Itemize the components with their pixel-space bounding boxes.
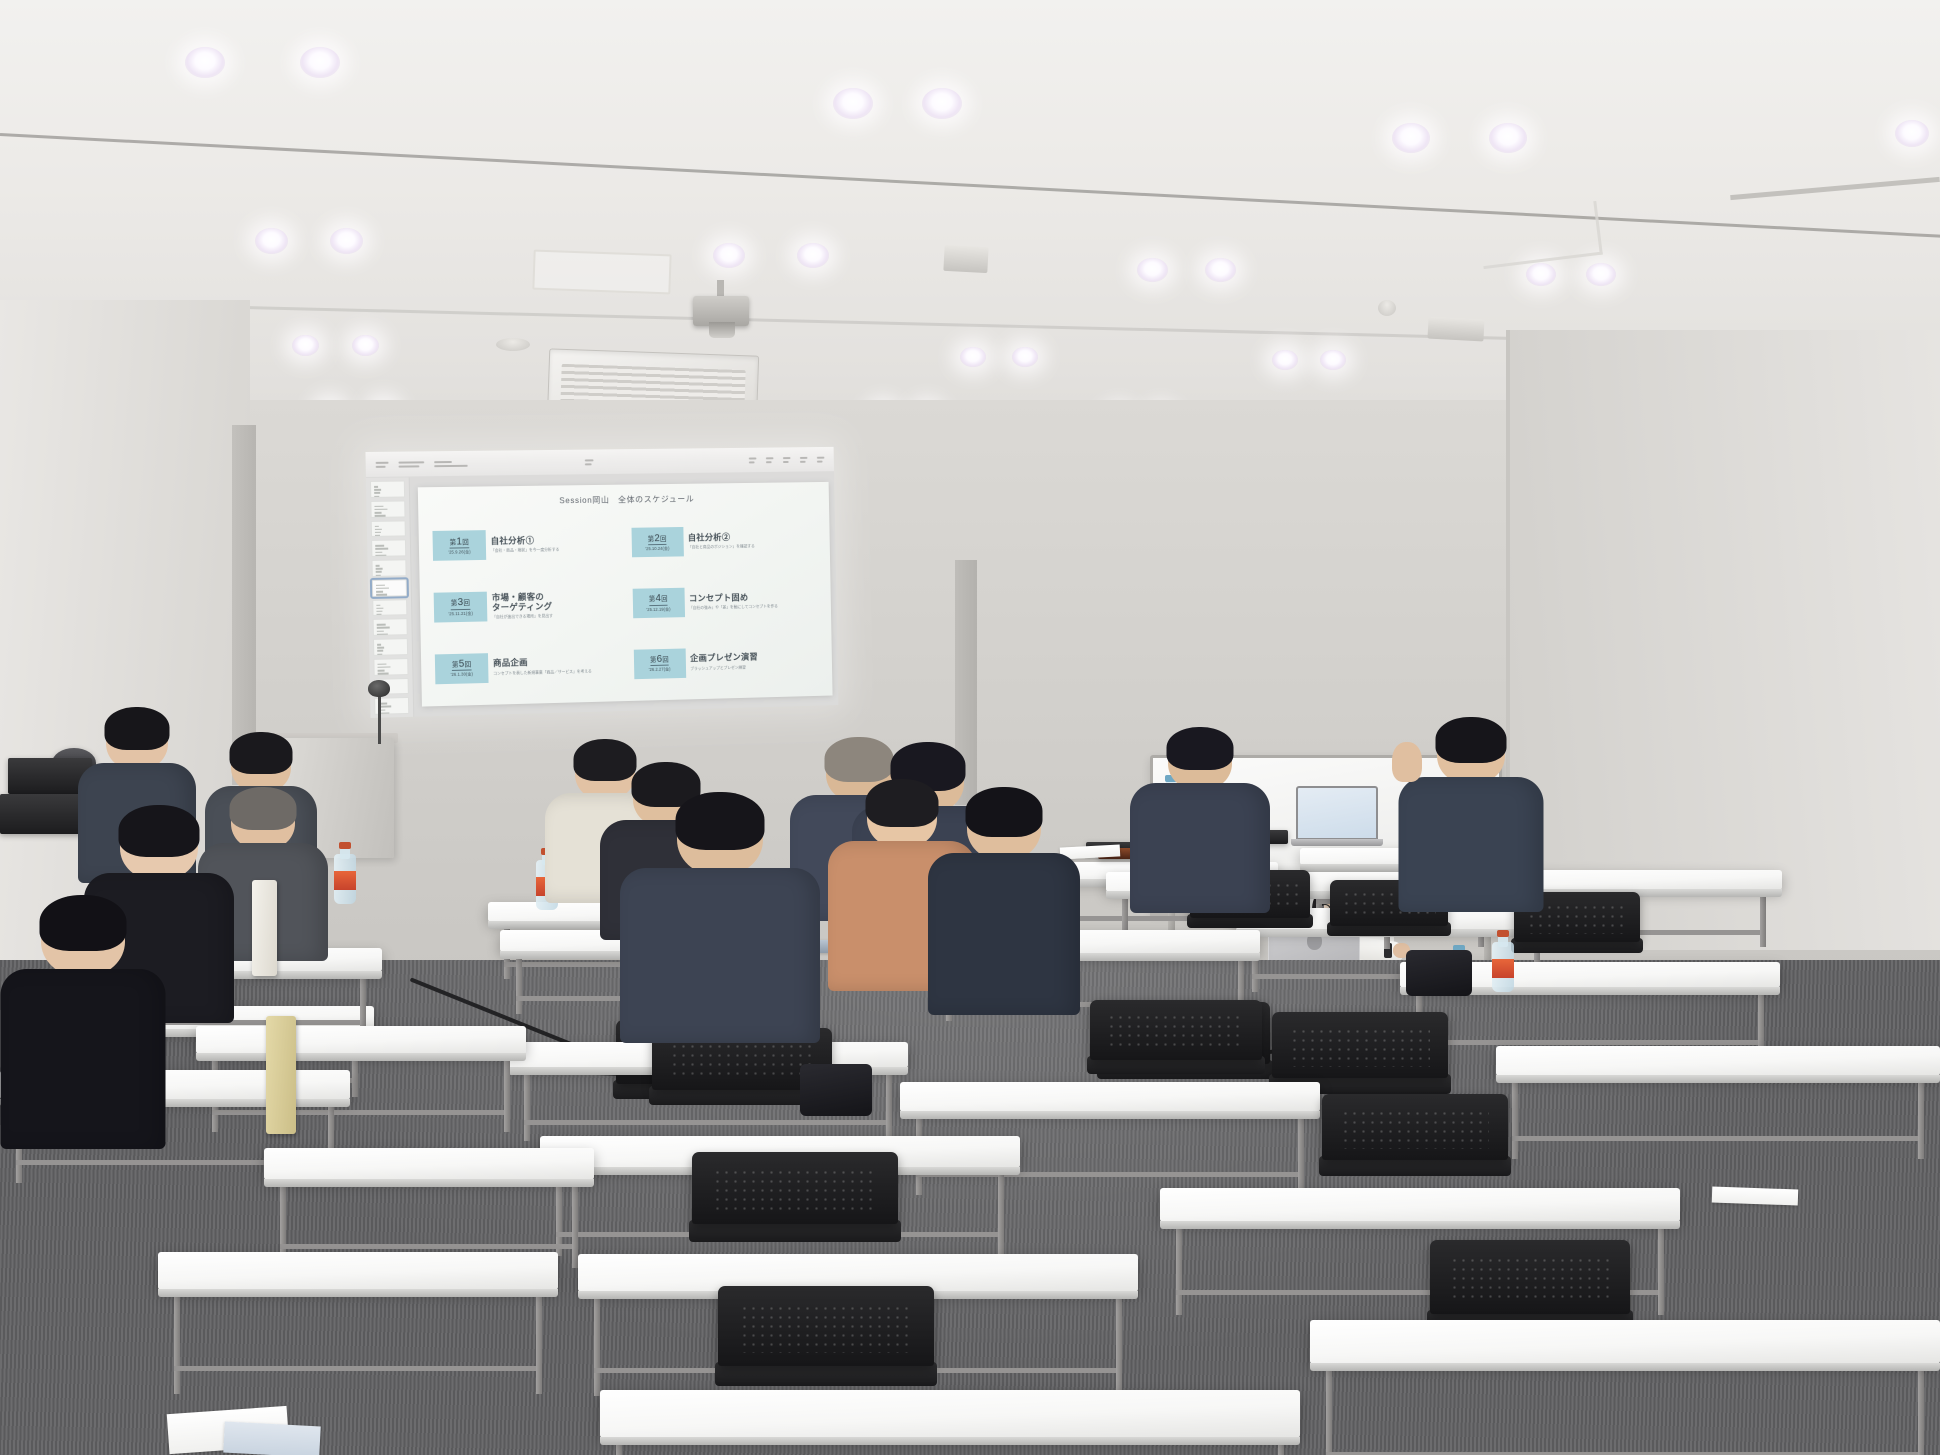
desk-rail — [524, 1120, 886, 1125]
slide-canvas: Session岡山 全体のスケジュール 第1回 '25.9.26(金) 自社分析… — [410, 472, 839, 717]
slide-thumbnail[interactable] — [371, 520, 406, 537]
ribbon-group — [783, 457, 791, 463]
desk-rail — [280, 1244, 572, 1249]
microphone-stand — [378, 690, 381, 744]
attendee-torso — [620, 868, 820, 1043]
chair — [1272, 1012, 1448, 1078]
session-item: 第5回 '26.1.30(金) 商品企画 コンセプトを表した新規事業「商品／サー… — [435, 635, 628, 698]
attendee-right-1 — [1130, 730, 1270, 920]
downlight-icon — [713, 243, 745, 268]
slide-thumbnail[interactable] — [370, 500, 405, 517]
downlight-icon — [292, 335, 319, 356]
downlight-icon — [1137, 258, 1168, 282]
session-date: '26.1.30(金) — [451, 672, 474, 679]
downlight-icon — [330, 228, 363, 254]
chair — [718, 1286, 934, 1366]
projection-screen: Session岡山 全体のスケジュール 第1回 '25.9.26(金) 自社分析… — [365, 447, 838, 718]
seminar-room-photo: Session岡山 全体のスケジュール 第1回 '25.9.26(金) 自社分析… — [0, 0, 1940, 1455]
session-date: '25.11.21(金) — [448, 611, 473, 617]
desk-rail — [1416, 1040, 1758, 1045]
desk-rail — [1512, 1136, 1918, 1141]
ribbon-group — [749, 457, 757, 463]
smoke-detector-icon — [496, 338, 530, 351]
downlight-icon — [1526, 263, 1556, 286]
desk-leg — [1298, 1117, 1304, 1195]
tumbler — [252, 880, 277, 976]
current-slide: Session岡山 全体のスケジュール 第1回 '25.9.26(金) 自社分析… — [418, 482, 833, 707]
chair — [692, 1152, 898, 1224]
desk-row5-right — [1160, 1188, 1680, 1222]
attendee-torso — [0, 969, 165, 1149]
bag — [800, 1064, 872, 1116]
chair — [1322, 1094, 1508, 1160]
ribbon-group — [434, 460, 468, 466]
downlight-icon — [1320, 350, 1346, 370]
desk-leg — [536, 1295, 542, 1394]
attendee-hair — [1435, 717, 1506, 763]
ceiling-speaker-icon — [943, 245, 988, 273]
chair — [1090, 1000, 1262, 1060]
slide-thumbnail[interactable] — [372, 579, 407, 596]
session-date: '25.10.24(金) — [645, 546, 669, 552]
desk-leg — [1512, 1081, 1518, 1159]
session-number-badge: 第6回 '26.2.27(金) — [633, 648, 685, 679]
session-heading: コンセプト固め — [689, 592, 778, 603]
desk-row4-right — [900, 1082, 1320, 1112]
attendee-center-7 — [928, 790, 1080, 1022]
session-heading: 商品企画 — [493, 657, 592, 669]
ribbon-group — [766, 457, 774, 463]
attendee-hair — [966, 787, 1043, 837]
downlight-icon — [1392, 123, 1430, 153]
desk-leg — [886, 1073, 892, 1141]
attendee-hair — [1167, 727, 1234, 770]
downlight-icon — [1205, 258, 1236, 282]
desk-row4-far-right — [1496, 1046, 1940, 1076]
bag — [1406, 950, 1472, 996]
tumbler — [266, 1016, 296, 1134]
session-number-badge: 第2回 '25.10.24(金) — [631, 527, 683, 557]
slide-thumbnail[interactable] — [373, 618, 408, 635]
ribbon-group — [398, 461, 424, 467]
desk-leg — [516, 957, 522, 1014]
slide-thumbnail[interactable] — [370, 481, 405, 498]
session-number: 第6回 — [650, 654, 669, 667]
session-number-badge: 第4回 '25.12.19(金) — [632, 588, 684, 619]
desk-row5-left — [158, 1252, 558, 1290]
downlight-icon — [352, 335, 379, 356]
session-item: 第4回 '25.12.19(金) コンセプト固め 「自社の強み」や「差」を軸にし… — [632, 571, 820, 632]
downlight-icon — [300, 47, 340, 78]
desk-rail — [174, 1366, 536, 1371]
attendee-hair — [105, 707, 170, 750]
slide-thumbnail[interactable] — [372, 599, 407, 616]
desk-leg — [504, 1059, 510, 1132]
desk-row4-left — [264, 1148, 594, 1180]
session-number: 第3回 — [451, 597, 471, 610]
session-number-badge: 第3回 '25.11.21(金) — [434, 592, 488, 623]
session-number: 第1回 — [450, 536, 470, 549]
session-number: 第5回 — [452, 658, 472, 671]
desk-leg — [174, 1295, 180, 1394]
session-item: 第6回 '26.2.27(金) 企画プレゼン演習 ブラッシュアップとプレゼン練習 — [633, 631, 821, 693]
ceiling-speaker-icon — [1427, 317, 1484, 342]
powerpoint-window: Session岡山 全体のスケジュール 第1回 '25.9.26(金) 自社分析… — [365, 447, 838, 718]
downlight-icon — [960, 347, 986, 367]
desk-leg — [1918, 1369, 1924, 1455]
schedule-grid: 第1回 '25.9.26(金) 自社分析① 「会社・商品・現状」を今一度分析する… — [432, 511, 821, 698]
ceiling-access-panel — [532, 250, 671, 295]
session-heading: 市場・顧客のターゲティング — [492, 592, 553, 613]
downlight-icon — [922, 88, 962, 119]
downlight-icon — [1895, 120, 1929, 147]
session-heading: 自社分析① — [491, 536, 560, 547]
attendee-hand — [1392, 742, 1422, 782]
tea-bottle — [334, 842, 356, 904]
attendee-torso — [1398, 777, 1543, 912]
slide-thumbnail[interactable] — [372, 559, 407, 576]
session-subtext: コンセプトを表した新規事業「商品／サービス」を考える — [493, 668, 592, 676]
attendee-hair — [39, 895, 126, 951]
desk-leg — [594, 1297, 600, 1396]
paper-document — [1712, 1187, 1799, 1206]
downlight-icon — [255, 228, 288, 254]
session-number-badge: 第1回 '25.9.26(金) — [432, 530, 486, 561]
session-item: 第3回 '25.11.21(金) 市場・顧客のターゲティング 「自社が進出できる… — [433, 575, 626, 637]
attendee-hair — [676, 792, 765, 850]
downlight-icon — [1586, 263, 1616, 286]
desk-leg — [524, 1073, 530, 1141]
session-subtext: 「会社・商品・現状」を今一度分析する — [491, 547, 559, 553]
desk-leg — [1326, 1369, 1332, 1455]
downlight-icon — [1489, 123, 1527, 153]
right-wall — [1510, 330, 1940, 950]
microphone-icon — [368, 680, 390, 697]
ribbon-group — [800, 456, 808, 462]
downlight-icon — [833, 88, 873, 119]
session-heading: 自社分析② — [688, 533, 755, 544]
attendee-torso — [1130, 783, 1270, 913]
attendee-front-left-5 — [0, 898, 165, 1156]
ribbon-group — [376, 461, 389, 467]
downlight-icon — [185, 47, 225, 78]
session-number-badge: 第5回 '26.1.30(金) — [435, 653, 489, 684]
session-date: '25.12.19(金) — [646, 606, 670, 612]
attendee-hair — [230, 732, 293, 774]
session-subtext: 「自社が進出できる場所」を見出す — [492, 613, 553, 620]
slide-thumbnail[interactable] — [373, 658, 408, 676]
attendee-torso — [928, 853, 1080, 1015]
session-heading: 企画プレゼン演習 — [690, 653, 758, 664]
slide-thumbnail[interactable] — [373, 638, 408, 656]
desk-leg — [1760, 895, 1766, 947]
downlight-icon — [797, 243, 829, 268]
ceiling-seam — [0, 133, 1940, 239]
session-item: 第2回 '25.10.24(金) 自社分析② 「自社と商品のポジション」を確認す… — [631, 511, 819, 572]
ribbon-group — [585, 459, 594, 465]
desk-leg — [1176, 1227, 1182, 1315]
desk-rail — [212, 1110, 504, 1115]
ceiling-projector-icon — [693, 280, 749, 342]
smoke-detector-icon — [1378, 300, 1396, 316]
downlight-icon — [1012, 347, 1038, 367]
session-subtext: 「自社と商品のポジション」を確認する — [688, 544, 755, 550]
wall-column-left — [232, 425, 256, 785]
session-item: 第1回 '25.9.26(金) 自社分析① 「会社・商品・現状」を今一度分析する — [432, 514, 625, 575]
desk-row6-right — [1310, 1320, 1940, 1364]
session-date: '25.9.26(金) — [448, 549, 471, 555]
session-number: 第4回 — [649, 593, 668, 606]
desk-row3-far-left — [196, 1026, 526, 1054]
chair — [1430, 1240, 1630, 1314]
slide-title: Session岡山 全体のスケジュール — [432, 491, 818, 508]
desk-leg — [1658, 1227, 1664, 1315]
attendee-hair — [230, 787, 297, 830]
desk-leg — [1918, 1081, 1924, 1159]
desk-leg — [1116, 1297, 1122, 1396]
ribbon-group — [817, 456, 825, 462]
session-subtext: ブラッシュアップとプレゼン練習 — [690, 664, 758, 671]
desk-leg — [998, 1173, 1004, 1256]
session-number: 第2回 — [648, 533, 667, 546]
desk-row6-center — [600, 1390, 1300, 1438]
session-date: '26.2.27(金) — [649, 667, 671, 673]
tea-bottle — [1492, 930, 1514, 992]
downlight-icon — [1272, 350, 1298, 370]
attendee-center-3 — [620, 795, 820, 1050]
session-subtext: 「自社の強み」や「差」を軸にしてコンセプトを作る — [689, 603, 778, 610]
paper-document — [223, 1422, 320, 1455]
attendee-laptop — [1296, 786, 1378, 848]
slide-thumbnail[interactable] — [371, 540, 406, 557]
attendee-hair — [119, 805, 200, 857]
